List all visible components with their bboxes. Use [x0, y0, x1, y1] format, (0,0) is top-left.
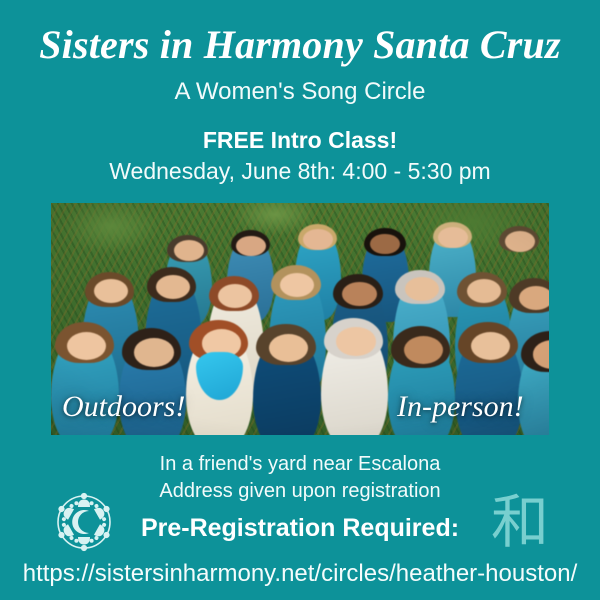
photo-person-head	[156, 275, 190, 299]
photo-person-head	[174, 240, 204, 261]
page-subtitle: A Women's Song Circle	[0, 77, 600, 107]
photo-person-head	[218, 284, 252, 308]
photo-person-head	[236, 236, 266, 257]
photo-person-head	[342, 282, 376, 306]
flyer-poster: Sisters in Harmony Santa Cruz A Women's …	[0, 0, 600, 600]
photo-person-head	[134, 338, 173, 366]
photo-person-head	[519, 286, 549, 310]
harmony-kanji-icon: 和	[480, 487, 560, 557]
photo-overlay-outdoors: Outdoors!	[62, 390, 185, 424]
photo-person-head	[471, 332, 510, 360]
registration-url-link[interactable]: https://sistersinharmony.net/circles/hea…	[0, 559, 600, 589]
promo-headline: FREE Intro Class!	[0, 126, 600, 154]
photo-person-head	[505, 231, 535, 252]
photo-person-head	[280, 273, 314, 297]
page-title: Sisters in Harmony Santa Cruz	[0, 22, 600, 68]
crescent-moon-circle-of-women-logo	[45, 483, 123, 561]
location-line-1: In a friend's yard near Escalona	[0, 452, 600, 477]
promo-datetime: Wednesday, June 8th: 4:00 - 5:30 pm	[0, 157, 600, 185]
photo-person-head	[405, 277, 439, 301]
photo-person-head	[67, 332, 106, 360]
photo-person-head	[336, 327, 375, 355]
photo-person-head	[303, 229, 333, 250]
photo-overlay-in-person: In-person!	[397, 390, 524, 424]
photo-person-head	[438, 227, 468, 248]
